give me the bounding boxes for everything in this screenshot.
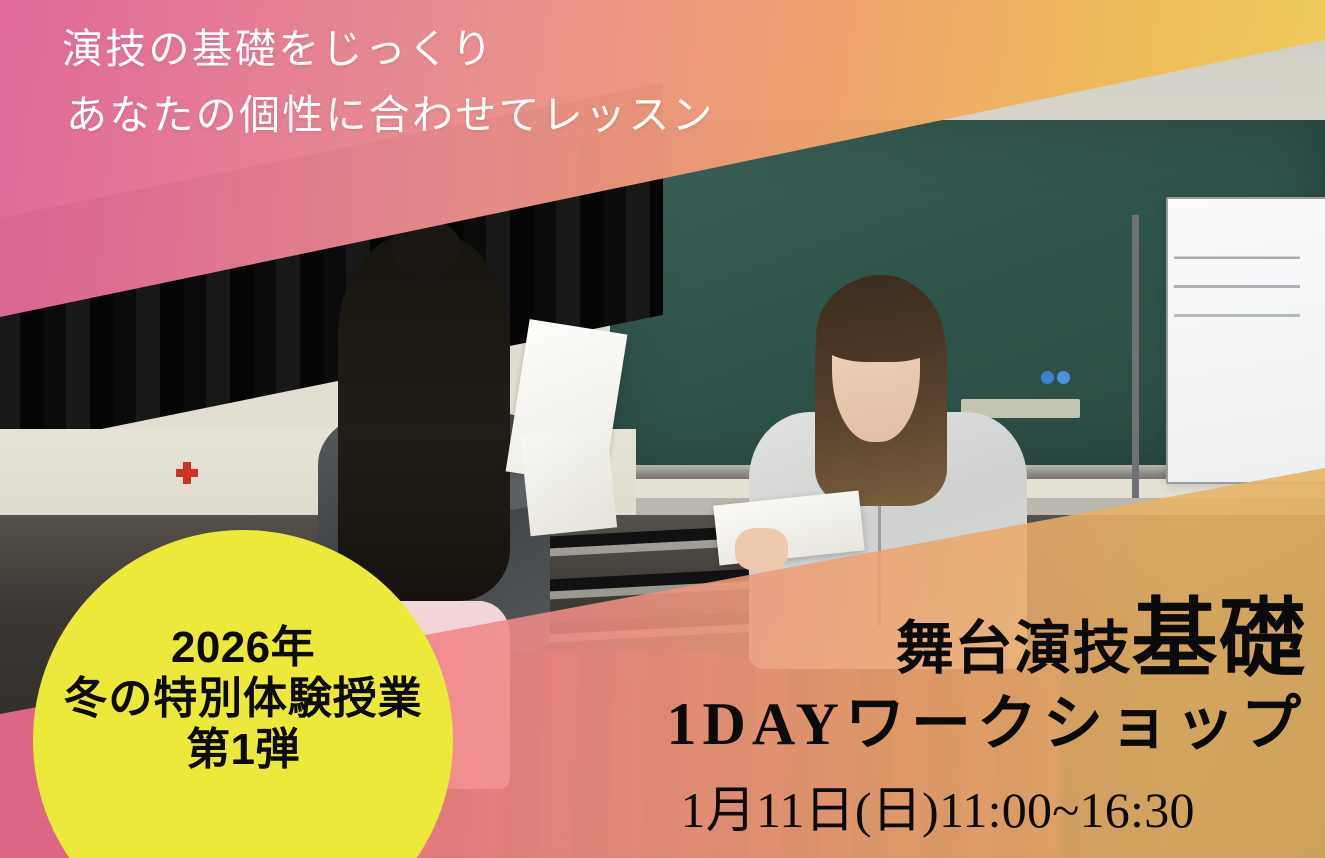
badge-line-course: 冬の特別体験授業 bbox=[63, 673, 422, 724]
whiteboard bbox=[1166, 197, 1325, 484]
whiteboard-writing bbox=[1174, 239, 1300, 335]
title-subtitle: 1DAYワークショップ bbox=[667, 687, 1307, 762]
title-main-small: 舞台演技 bbox=[896, 616, 1132, 681]
title-main: 舞台演技基礎 bbox=[667, 597, 1307, 681]
instructor-hand bbox=[735, 528, 788, 571]
student-hair bbox=[338, 232, 510, 601]
headline-line-1: 演技の基礎をじっくり bbox=[62, 16, 1325, 82]
blue-magnet-icon bbox=[1057, 371, 1070, 384]
student-script-paper bbox=[520, 425, 618, 537]
first-aid-cross-icon bbox=[183, 462, 191, 484]
headline-line-2: あなたの個性に合わせてレッスン bbox=[66, 82, 1325, 148]
title-block: 舞台演技基礎 1DAYワークショップ 1月11日(日)11:00~16:30 bbox=[667, 597, 1307, 842]
title-main-big: 基礎 bbox=[1132, 591, 1307, 687]
date-row: 1月11日(日)11:00~16:30 bbox=[667, 762, 1307, 842]
badge-line-year: 2026年 bbox=[171, 622, 315, 673]
headline: 演技の基礎をじっくり あなたの個性に合わせてレッスン bbox=[0, 16, 1325, 149]
badge-line-volume: 第1弾 bbox=[186, 724, 300, 775]
whiteboard-stand bbox=[1132, 215, 1139, 498]
promo-banner: 演技の基礎をじっくり あなたの個性に合わせてレッスン 2026年 冬の特別体験授… bbox=[0, 0, 1325, 858]
event-date-time: 1月11日(日)11:00~16:30 bbox=[667, 770, 1195, 842]
